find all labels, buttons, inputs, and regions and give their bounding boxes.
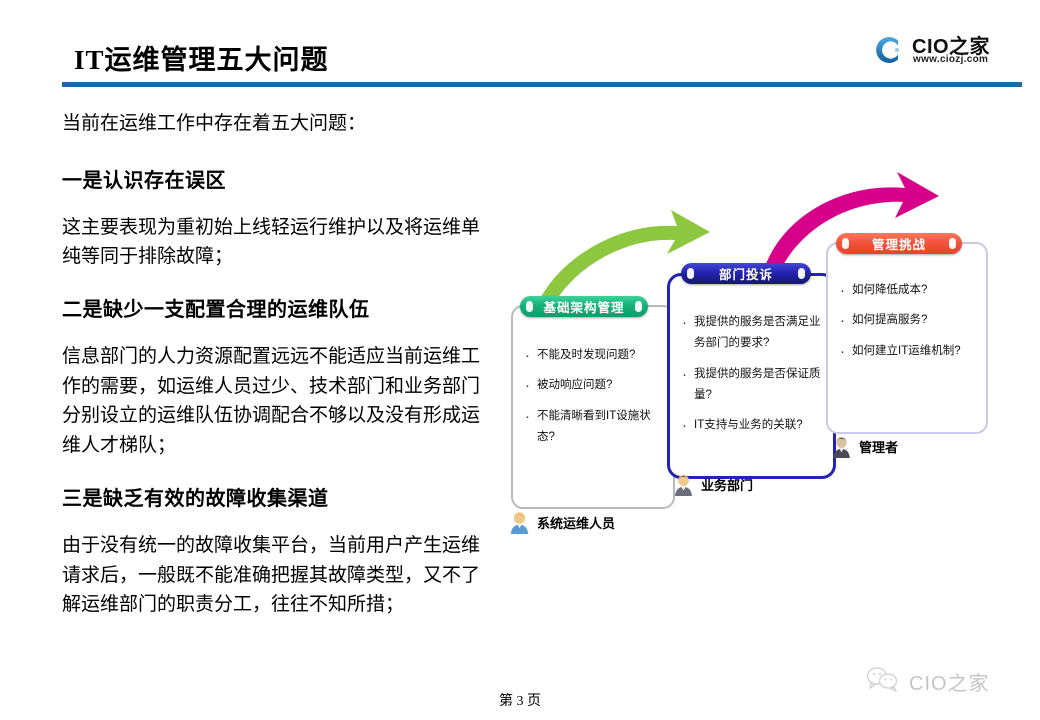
role-label-business: 业务部门 bbox=[673, 473, 753, 496]
bullet-item: 不能及时发现问题? bbox=[521, 345, 667, 366]
card-1-banner-label: 基础架构管理 bbox=[543, 297, 624, 316]
card-3-banner: 管理挑战 bbox=[836, 233, 962, 254]
banner-cap-left-icon bbox=[687, 268, 694, 279]
role-label-operator: 系统运维人员 bbox=[509, 511, 615, 534]
card-3-bullets: 如何降低成本? 如何提高服务? 如何建立IT运维机制? bbox=[836, 280, 980, 371]
card-1-banner: 基础架构管理 bbox=[520, 296, 648, 317]
bullet-item: 如何降低成本? bbox=[836, 280, 980, 301]
avatar-business-icon bbox=[673, 473, 694, 496]
card-3-banner-label: 管理挑战 bbox=[872, 234, 926, 253]
bullet-item: 不能清晰看到IT设施状态? bbox=[521, 406, 667, 449]
bullet-item: IT支持与业务的关联? bbox=[678, 415, 828, 436]
role-name-manager: 管理者 bbox=[859, 437, 898, 456]
bullet-item: 如何提高服务? bbox=[836, 310, 980, 331]
banner-cap-right-icon bbox=[635, 301, 642, 312]
c-ring-icon bbox=[872, 33, 906, 67]
banner-cap-left-icon bbox=[526, 301, 533, 312]
logo-url-text: www.ciozj.com bbox=[913, 54, 988, 65]
avatar-operator-icon bbox=[509, 511, 530, 534]
banner-cap-right-icon bbox=[949, 238, 956, 249]
text-column: 当前在运维工作中存在着五大问题： 一是认识存在误区 这主要表现为重初始上线轻运行… bbox=[62, 110, 492, 641]
section-heading-3: 三是缺乏有效的故障收集渠道 bbox=[62, 482, 492, 511]
section-heading-1: 一是认识存在误区 bbox=[62, 164, 492, 193]
bullet-item: 我提供的服务是否满足业务部门的要求? bbox=[678, 312, 828, 355]
page-title: IT运维管理五大问题 bbox=[74, 38, 329, 77]
card-2-banner: 部门投诉 bbox=[681, 263, 811, 284]
title-divider bbox=[62, 82, 1022, 87]
role-name-business: 业务部门 bbox=[701, 475, 753, 494]
diagram: 不能及时发现问题? 被动响应问题? 不能清晰看到IT设施状态? 基础架构管理 系… bbox=[495, 170, 1025, 570]
bullet-item: 被动响应问题? bbox=[521, 375, 667, 396]
card-management-challenges[interactable]: 如何降低成本? 如何提高服务? 如何建立IT运维机制? bbox=[826, 242, 988, 434]
section-body-3: 由于没有统一的故障收集平台，当前用户产生运维请求后，一般既不能准确把握其故障类型… bbox=[62, 531, 492, 619]
card-department-complaints[interactable]: 我提供的服务是否满足业务部门的要求? 我提供的服务是否保证质量? IT支持与业务… bbox=[667, 273, 836, 479]
banner-cap-right-icon bbox=[798, 268, 805, 279]
card-infrastructure[interactable]: 不能及时发现问题? 被动响应问题? 不能清晰看到IT设施状态? bbox=[511, 305, 675, 509]
role-name-operator: 系统运维人员 bbox=[537, 513, 615, 532]
card-2-banner-label: 部门投诉 bbox=[719, 264, 773, 283]
card-2-bullets: 我提供的服务是否满足业务部门的要求? 我提供的服务是否保证质量? IT支持与业务… bbox=[678, 312, 828, 445]
page-number: 第 3 页 bbox=[0, 690, 1040, 710]
banner-cap-left-icon bbox=[842, 238, 849, 249]
bullet-item: 我提供的服务是否保证质量? bbox=[678, 364, 828, 407]
slide: IT运维管理五大问题 CIO之家 www.ciozj.com 当前在运维工作中存… bbox=[0, 0, 1040, 720]
card-1-bullets: 不能及时发现问题? 被动响应问题? 不能清晰看到IT设施状态? bbox=[521, 345, 667, 457]
section-heading-2: 二是缺少一支配置合理的运维队伍 bbox=[62, 293, 492, 322]
role-label-manager: 管理者 bbox=[831, 435, 898, 458]
bullet-item: 如何建立IT运维机制? bbox=[836, 341, 980, 362]
lead-paragraph: 当前在运维工作中存在着五大问题： bbox=[62, 110, 492, 138]
brand-logo: CIO之家 www.ciozj.com bbox=[872, 30, 1012, 74]
section-body-1: 这主要表现为重初始上线轻运行维护以及将运维单纯等同于排除故障； bbox=[62, 213, 492, 272]
section-body-2: 信息部门的人力资源配置远远不能适应当前运维工作的需要，如运维人员过少、技术部门和… bbox=[62, 342, 492, 460]
avatar-manager-icon bbox=[831, 435, 852, 458]
